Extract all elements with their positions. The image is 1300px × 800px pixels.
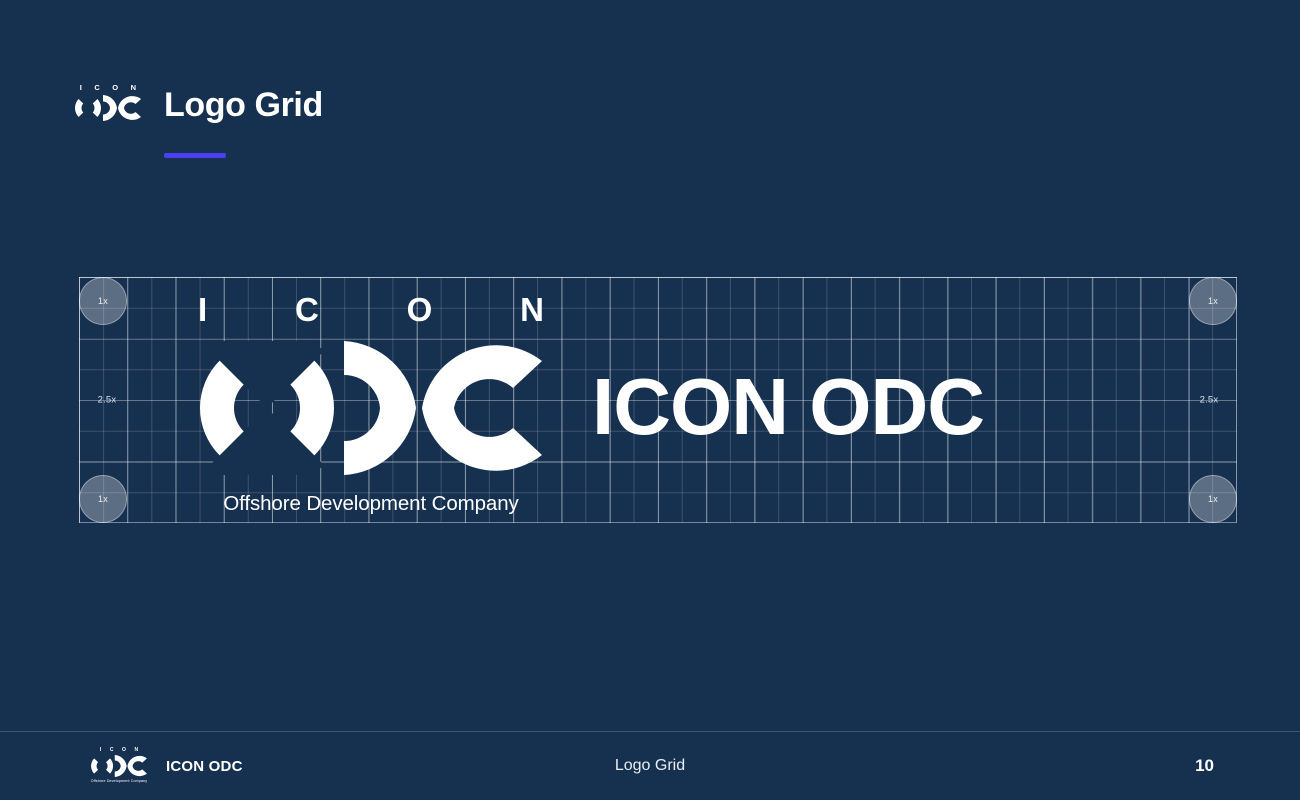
logo-kicker-letter-c: C: [295, 293, 319, 326]
footer-brand-logo: I C O N Offshore Development Company: [86, 748, 152, 784]
footer-brand: I C O N Offshore Development Company ICO…: [86, 748, 243, 784]
logo-artwork-stage: I C O N Offshore Development Company ICO…: [0, 0, 1300, 800]
footer-logo-subtitle: Offshore Development Company: [91, 780, 147, 784]
logo-kicker-letter-i: I: [198, 293, 207, 326]
logo-tagline: Offshore Development Company: [198, 494, 544, 515]
footer-logo-kicker: I C O N: [96, 748, 141, 753]
footer-page-number: 10: [1195, 756, 1214, 776]
logo-wordmark: ICON ODC: [592, 367, 984, 447]
logo-kicker-letters: I C O N: [198, 293, 544, 326]
footer-brand-name: ICON ODC: [166, 758, 243, 775]
slide-logo-grid: I C O N Logo Grid 1x: [0, 0, 1300, 800]
slide-footer: Logo Grid I C O N Offshore Development C…: [0, 732, 1300, 800]
logo-kicker-letter-o: O: [407, 293, 433, 326]
odc-monogram-icon: [200, 341, 542, 475]
odc-monogram-icon: [89, 755, 149, 777]
logo-kicker-letter-n: N: [520, 293, 544, 326]
